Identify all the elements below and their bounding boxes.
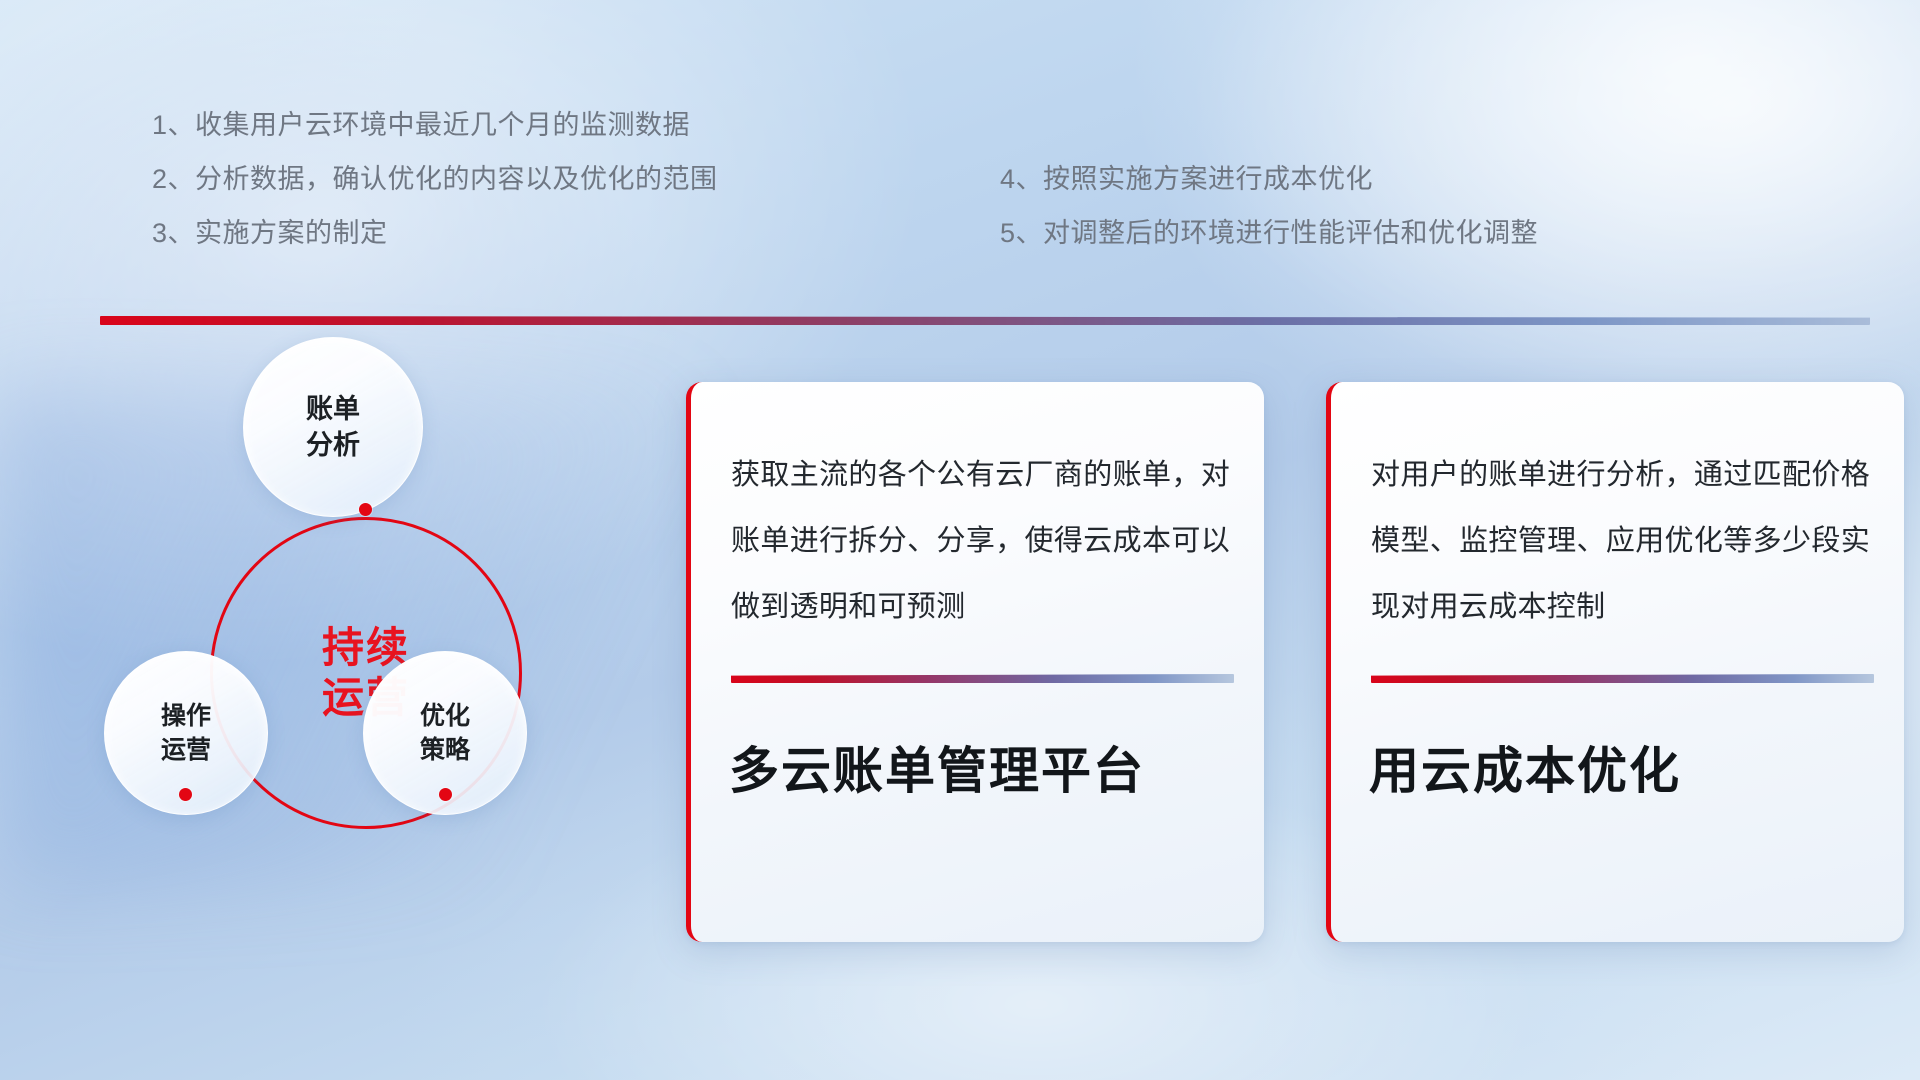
venn-diagram: 持续 运营 账单 分析 操作 运营 优化 策略 xyxy=(95,355,615,915)
card-multi-cloud-billing-body-wrap: 获取主流的各个公有云厂商的账单，对账单进行拆分、分享，使得云成本可以做到透明和可… xyxy=(731,442,1230,640)
card-cloud-cost-optimization[interactable]: 对用户的账单进行分析，通过匹配价格模型、监控管理、应用优化等多少段实现对用云成本… xyxy=(1326,382,1904,942)
venn-connector-dot-top xyxy=(359,503,372,516)
bullet-item-1: 1、收集用户云环境中最近几个月的监测数据 xyxy=(152,98,718,152)
bullet-item-3: 3、实施方案的制定 xyxy=(152,206,718,260)
venn-node-optimization-strategy-line-1: 优化 xyxy=(420,699,470,733)
bullet-item-2: 2、分析数据，确认优化的内容以及优化的范围 xyxy=(152,152,718,206)
card-multi-cloud-billing[interactable]: 获取主流的各个公有云厂商的账单，对账单进行拆分、分享，使得云成本可以做到透明和可… xyxy=(686,382,1264,942)
card-multi-cloud-billing-body: 获取主流的各个公有云厂商的账单，对账单进行拆分、分享，使得云成本可以做到透明和可… xyxy=(731,442,1230,640)
venn-connector-dot-bottom-left xyxy=(179,788,192,801)
card-cloud-cost-optimization-rule xyxy=(1371,674,1874,683)
card-multi-cloud-billing-rule xyxy=(731,674,1234,683)
feature-cards: 获取主流的各个公有云厂商的账单，对账单进行拆分、分享，使得云成本可以做到透明和可… xyxy=(686,382,1906,952)
bullet-item-4: 4、按照实施方案进行成本优化 xyxy=(1000,152,1538,206)
divider-gradient-bar xyxy=(100,316,1870,325)
card-cloud-cost-optimization-title: 用云成本优化 xyxy=(1369,740,1681,802)
bullet-column-right: 4、按照实施方案进行成本优化 5、对调整后的环境进行性能评估和优化调整 xyxy=(1000,152,1538,260)
bullet-column-left: 1、收集用户云环境中最近几个月的监测数据 2、分析数据，确认优化的内容以及优化的… xyxy=(152,98,718,260)
bullet-item-5: 5、对调整后的环境进行性能评估和优化调整 xyxy=(1000,206,1538,260)
card-multi-cloud-billing-title: 多云账单管理平台 xyxy=(729,740,1145,802)
card-cloud-cost-optimization-body: 对用户的账单进行分析，通过匹配价格模型、监控管理、应用优化等多少段实现对用云成本… xyxy=(1371,442,1870,640)
venn-node-operations-line-1: 操作 xyxy=(161,699,211,733)
venn-node-operations-line-2: 运营 xyxy=(161,733,211,767)
bullet-lists: 1、收集用户云环境中最近几个月的监测数据 2、分析数据，确认优化的内容以及优化的… xyxy=(0,0,1920,260)
section-divider xyxy=(100,316,1870,326)
card-cloud-cost-optimization-body-wrap: 对用户的账单进行分析，通过匹配价格模型、监控管理、应用优化等多少段实现对用云成本… xyxy=(1371,442,1870,640)
venn-node-bill-analysis[interactable]: 账单 分析 xyxy=(243,337,423,517)
venn-connector-dot-bottom-right xyxy=(439,788,452,801)
venn-node-bill-analysis-line-1: 账单 xyxy=(306,391,360,427)
venn-node-optimization-strategy-line-2: 策略 xyxy=(420,733,470,767)
venn-node-bill-analysis-line-2: 分析 xyxy=(306,427,360,463)
